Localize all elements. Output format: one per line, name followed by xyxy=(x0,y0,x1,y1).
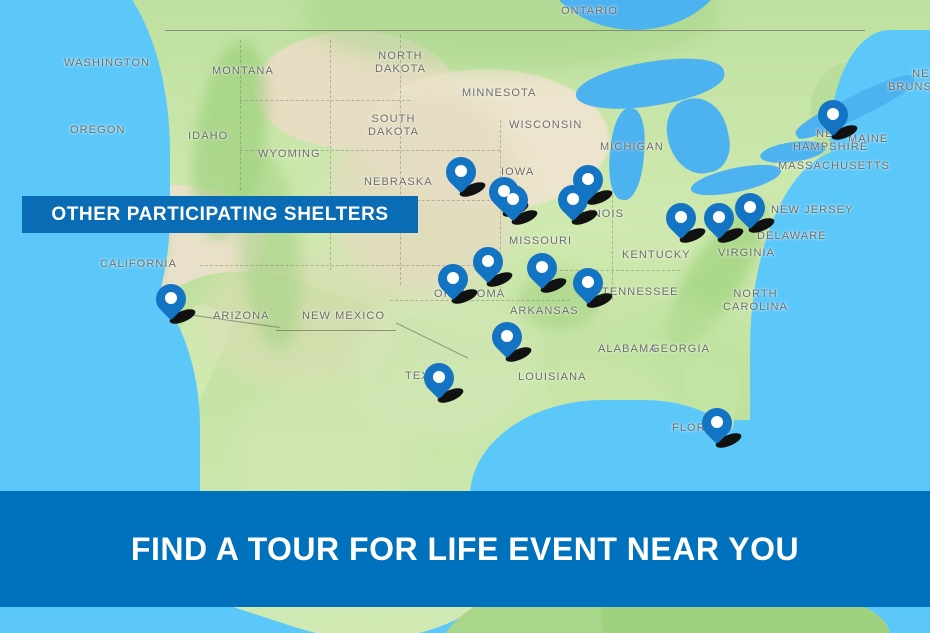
pin-center-dot xyxy=(536,261,548,273)
state-border xyxy=(400,35,401,285)
map-marker-pin[interactable] xyxy=(573,268,603,309)
find-event-headline: FIND A TOUR FOR LIFE EVENT NEAR YOU xyxy=(131,531,799,568)
pin-center-dot xyxy=(827,108,839,120)
pin-center-dot xyxy=(711,416,723,428)
state-border xyxy=(240,150,500,151)
state-border xyxy=(612,190,613,300)
map-marker-pin[interactable] xyxy=(156,284,186,325)
map-marker-pin[interactable] xyxy=(558,185,588,226)
map-marker-pin[interactable] xyxy=(527,253,557,294)
state-border xyxy=(240,100,410,101)
state-border xyxy=(240,40,241,190)
map-marker-pin[interactable] xyxy=(424,363,454,404)
national-border-canada xyxy=(165,30,865,31)
pin-center-dot xyxy=(447,272,459,284)
pin-center-dot xyxy=(713,211,725,223)
map-marker-pin[interactable] xyxy=(492,322,522,363)
map-marker-pin[interactable] xyxy=(438,264,468,305)
other-participating-shelters-label: OTHER PARTICIPATING SHELTERS xyxy=(51,204,388,226)
state-border xyxy=(390,300,570,301)
pin-center-dot xyxy=(455,165,467,177)
pin-center-dot xyxy=(582,173,594,185)
pin-center-dot xyxy=(501,330,513,342)
pin-center-dot xyxy=(582,276,594,288)
map-marker-pin[interactable] xyxy=(818,100,848,141)
national-border-mexico xyxy=(276,330,396,331)
page-root: WASHINGTON MONTANA NORTH DAKOTA MINNESOT… xyxy=(0,0,930,633)
map-marker-pin[interactable] xyxy=(666,203,696,244)
map-marker-pin[interactable] xyxy=(735,193,765,234)
state-border xyxy=(330,40,331,270)
pin-center-dot xyxy=(567,193,579,205)
pin-center-dot xyxy=(507,193,519,205)
other-participating-shelters-ribbon: OTHER PARTICIPATING SHELTERS xyxy=(22,196,418,233)
pin-center-dot xyxy=(482,255,494,267)
find-event-banner[interactable]: FIND A TOUR FOR LIFE EVENT NEAR YOU xyxy=(0,491,930,607)
pin-center-dot xyxy=(433,371,445,383)
pin-center-dot xyxy=(744,201,756,213)
map-marker-pin[interactable] xyxy=(446,157,476,198)
map-marker-pin[interactable] xyxy=(473,247,503,288)
map-marker-pin[interactable] xyxy=(704,203,734,244)
pin-center-dot xyxy=(165,292,177,304)
map-marker-pin[interactable] xyxy=(702,408,732,449)
pin-center-dot xyxy=(675,211,687,223)
